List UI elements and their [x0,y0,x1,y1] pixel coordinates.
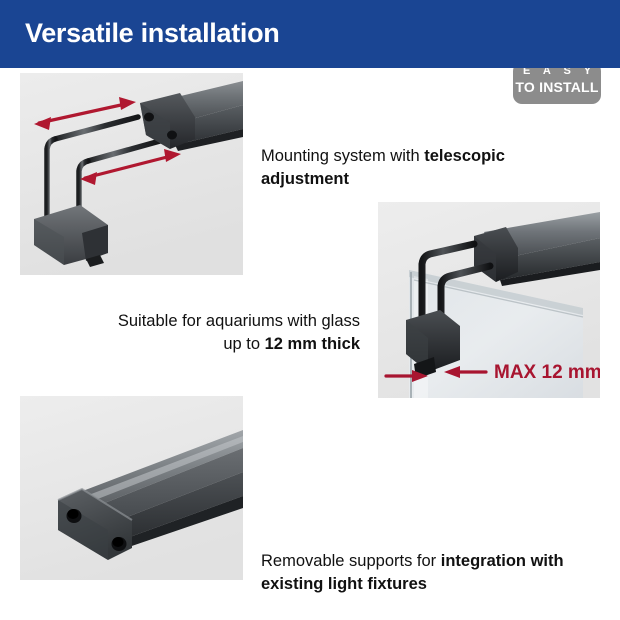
max-thickness-label: MAX 12 mm [494,362,600,383]
light-fixture-rail-end-photo [20,396,243,580]
caption-telescopic-plain: Mounting system with [261,147,424,165]
product-feature-panel: E A S Y TO INSTALL Versatile installatio… [0,0,620,620]
badge-line-to-install: TO INSTALL [513,79,601,95]
caption-removable-supports: Removable supports for integration with … [261,550,601,596]
caption-supports-plain: Removable supports for [261,552,441,570]
easy-to-install-badge: E A S Y TO INSTALL [513,62,601,104]
caption-glass-thickness: Suitable for aquariums with glass up to … [95,310,360,356]
bracket-on-aquarium-glass-photo: MAX 12 mm [378,202,600,398]
telescopic-mounting-bracket-photo [20,73,243,275]
page-title: Versatile installation [25,18,280,49]
caption-glass-bold: 12 mm thick [265,335,360,353]
caption-telescopic: Mounting system with telescopic adjustme… [261,145,591,191]
header-bar: Versatile installation [0,0,620,68]
